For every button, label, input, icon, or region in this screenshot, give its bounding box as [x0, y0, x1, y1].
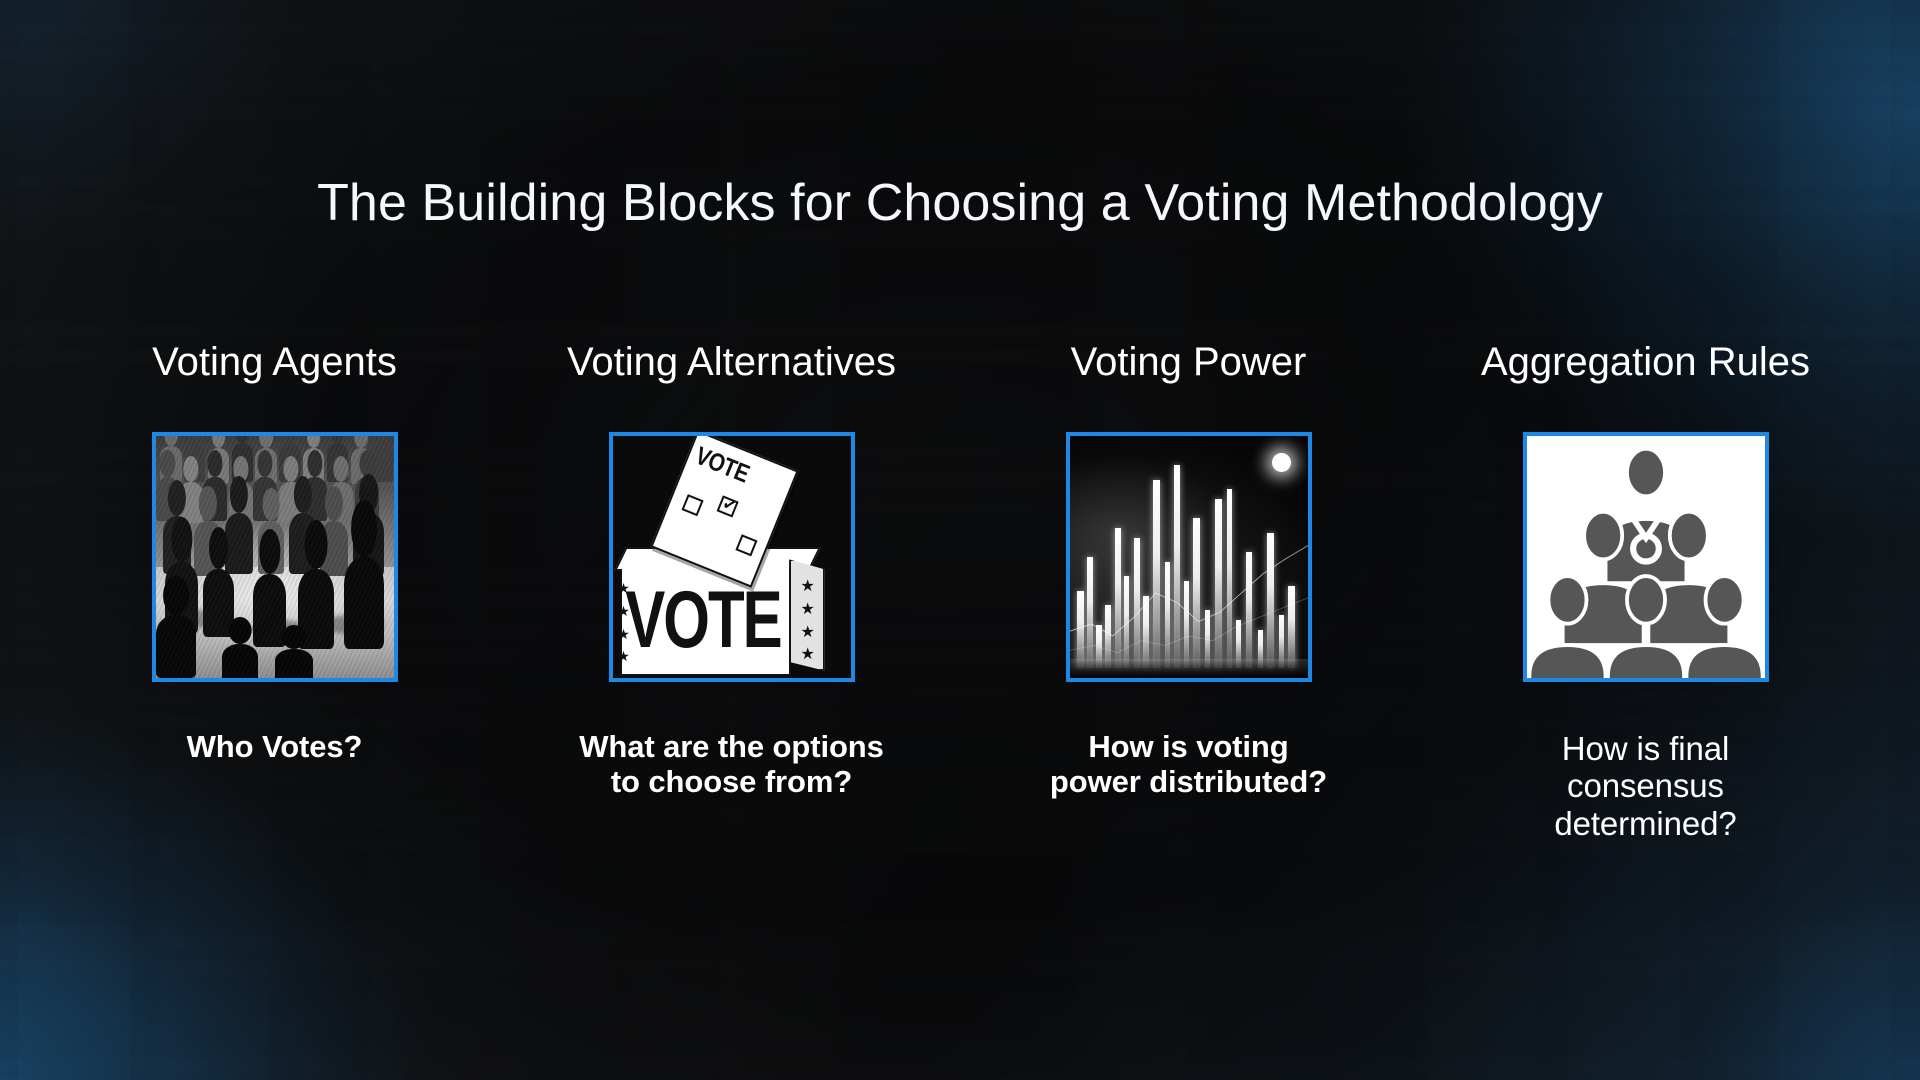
- block-voting-alternatives: Voting Alternatives ★★★★ VOTE: [503, 340, 960, 842]
- block-caption: Who Votes?: [187, 730, 363, 765]
- block-caption: What are the options to choose from?: [579, 730, 884, 799]
- block-image-wrapper: [1523, 432, 1769, 682]
- block-heading: Voting Power: [1071, 340, 1307, 384]
- caption-line: Who Votes?: [187, 730, 363, 765]
- block-heading: Voting Agents: [152, 340, 397, 384]
- ballot-slip-label: VOTE: [691, 442, 753, 489]
- block-voting-power: Voting Power: [960, 340, 1417, 842]
- block-heading: Voting Alternatives: [567, 340, 896, 384]
- slide-canvas: The Building Blocks for Choosing a Votin…: [0, 0, 1920, 1080]
- caption-line: determined?: [1554, 805, 1736, 842]
- people-pyramid-icon: [1523, 432, 1769, 682]
- block-voting-agents: Voting Agents: [46, 340, 503, 842]
- block-caption: How is voting power distributed?: [1050, 730, 1327, 799]
- caption-line: consensus: [1554, 767, 1736, 804]
- caption-line: How is final: [1554, 730, 1736, 767]
- caption-line: How is voting: [1050, 730, 1327, 765]
- block-image-wrapper: ★★★★ VOTE ★★★★ VOTE: [609, 432, 855, 682]
- caption-line: What are the options: [579, 730, 884, 765]
- slide-content: The Building Blocks for Choosing a Votin…: [0, 0, 1920, 1080]
- block-image-wrapper: [1066, 432, 1312, 682]
- block-heading: Aggregation Rules: [1481, 340, 1810, 384]
- people-group-icon: [1527, 436, 1765, 678]
- block-image-wrapper: [152, 432, 398, 682]
- caption-line: power distributed?: [1050, 765, 1327, 800]
- ballot-box-label: VOTE: [627, 568, 779, 673]
- block-caption: How is final consensus determined?: [1554, 730, 1736, 842]
- crowd-photo: [152, 432, 398, 682]
- trend-line: [1070, 436, 1308, 674]
- bar-chart-photo: [1066, 432, 1312, 682]
- caption-line: to choose from?: [579, 765, 884, 800]
- building-blocks-row: Voting Agents: [46, 340, 1874, 842]
- ballot-box-illustration: ★★★★ VOTE ★★★★ VOTE: [609, 432, 855, 682]
- slide-title: The Building Blocks for Choosing a Votin…: [0, 173, 1920, 233]
- block-aggregation-rules: Aggregation Rules: [1417, 340, 1874, 842]
